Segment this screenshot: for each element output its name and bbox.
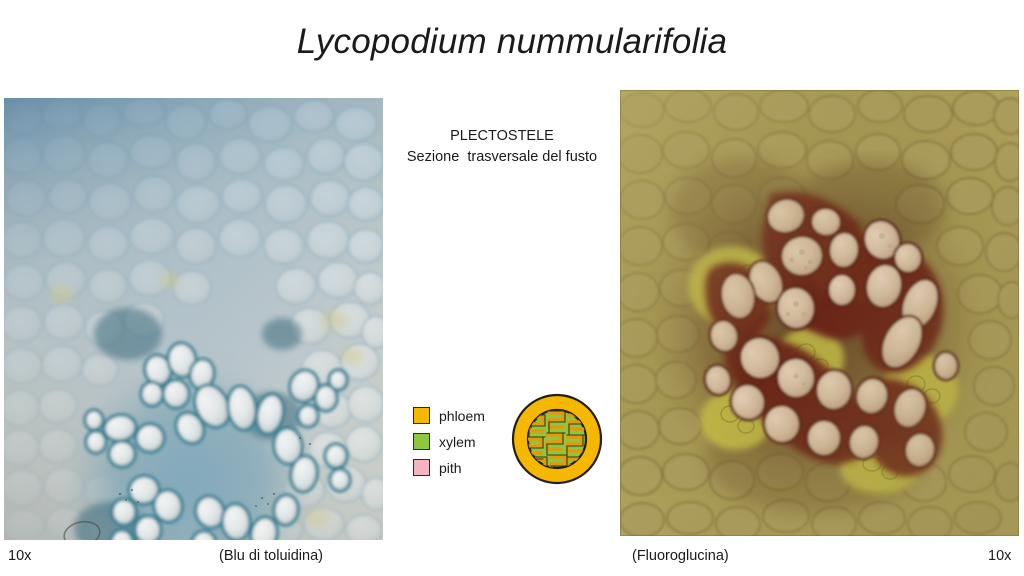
stain-label-right: (Fluoroglucina) [632, 548, 729, 564]
legend-swatch-xylem [413, 433, 430, 450]
micrograph-left [4, 98, 383, 540]
magnification-right: 10x [988, 548, 1011, 564]
legend-item-pith: pith [413, 456, 503, 479]
page-title: Lycopodium nummularifolia [0, 22, 1024, 62]
micrograph-right-image [620, 90, 1019, 536]
legend-label-phloem: phloem [439, 408, 485, 424]
legend-label-xylem: xylem [439, 434, 476, 450]
stain-label-left: (Blu di toluidina) [219, 548, 323, 564]
caption-section-type: Sezione trasversale del fusto [384, 147, 620, 168]
legend-item-xylem: xylem [413, 430, 503, 453]
magnification-left: 10x [8, 548, 31, 564]
plectostele-schematic-svg [509, 391, 605, 487]
plectostele-schematic [509, 391, 605, 487]
legend-swatch-pith [413, 459, 430, 476]
legend: phloem xylem pith [413, 404, 503, 482]
caption-stele-type: PLECTOSTELE [384, 126, 620, 147]
caption-block: PLECTOSTELE Sezione trasversale del fust… [384, 126, 620, 168]
micrograph-right [620, 90, 1019, 536]
legend-swatch-phloem [413, 407, 430, 424]
legend-item-phloem: phloem [413, 404, 503, 427]
micrograph-left-image [4, 98, 383, 540]
legend-label-pith: pith [439, 460, 462, 476]
